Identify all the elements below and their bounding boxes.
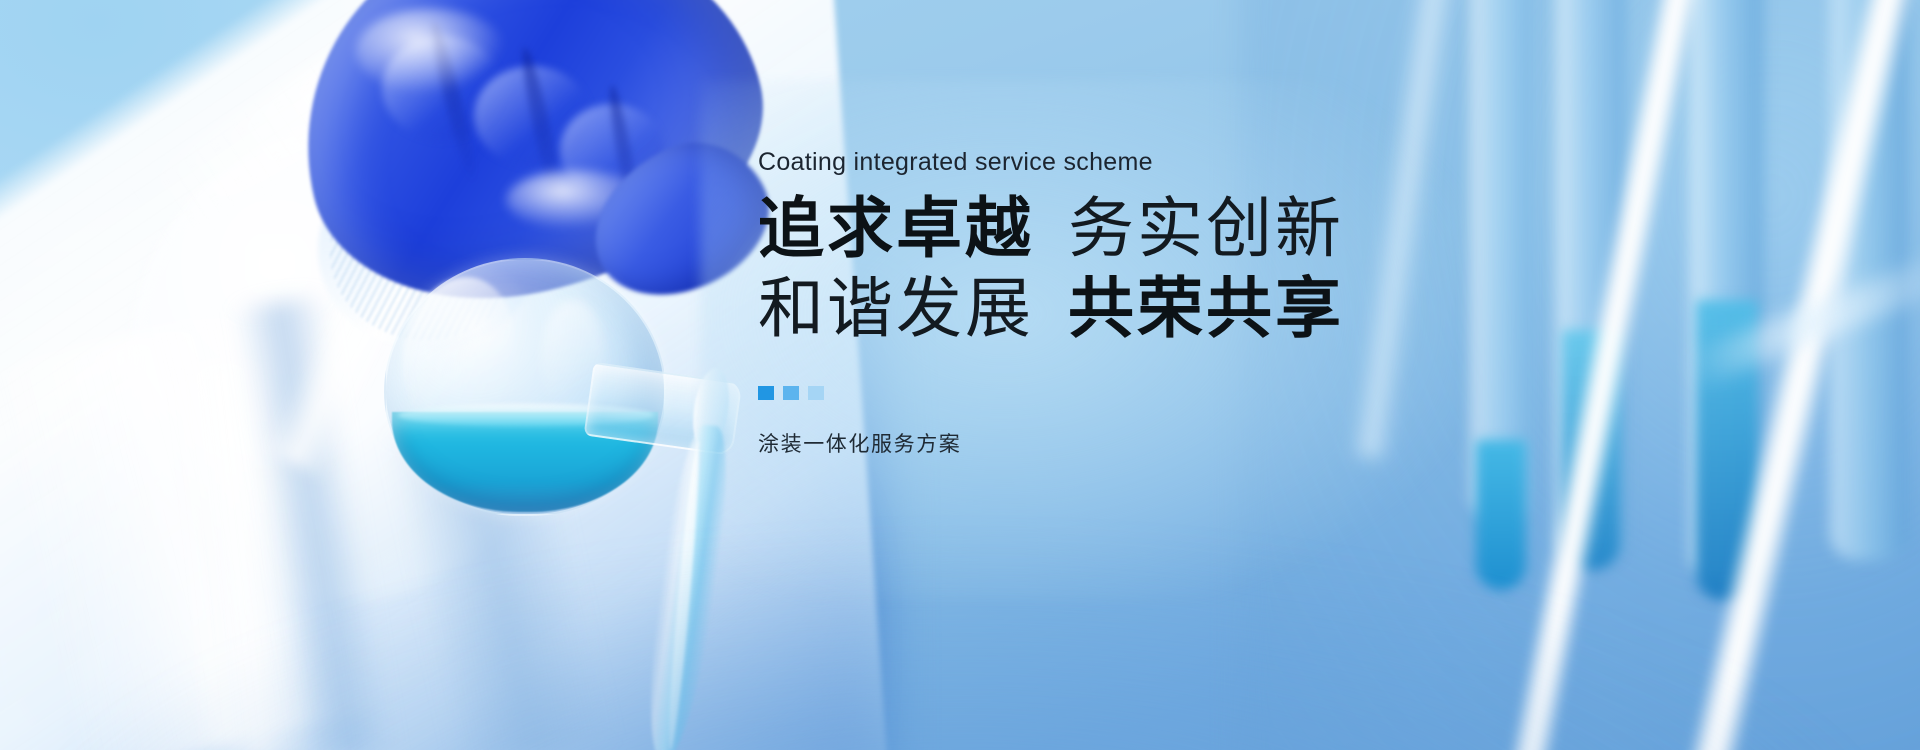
- banner-eyebrow-text: Coating integrated service scheme: [758, 148, 1153, 177]
- banner-content: Coating integrated service scheme 追求卓越 务…: [758, 0, 1658, 750]
- slide-indicators[interactable]: [758, 386, 824, 400]
- slide-indicator-3[interactable]: [808, 386, 824, 400]
- headline-line2-bold: 共荣共享: [1068, 276, 1344, 342]
- headline-line-2: 和谐发展 共荣共享: [758, 276, 1658, 342]
- banner-headline: 追求卓越 务实创新 和谐发展 共荣共享: [758, 196, 1658, 342]
- slide-indicator-2[interactable]: [783, 386, 799, 400]
- hero-banner: Coating integrated service scheme 追求卓越 务…: [0, 0, 1920, 750]
- headline-line1-light: 务实创新: [1068, 196, 1344, 262]
- banner-tagline: 涂装一体化服务方案: [758, 428, 961, 458]
- headline-line1-bold: 追求卓越: [758, 196, 1034, 262]
- glove-highlight: [356, 8, 506, 94]
- slide-indicator-1[interactable]: [758, 386, 774, 400]
- headline-line2-light: 和谐发展: [758, 276, 1034, 342]
- headline-line-1: 追求卓越 务实创新: [758, 196, 1658, 262]
